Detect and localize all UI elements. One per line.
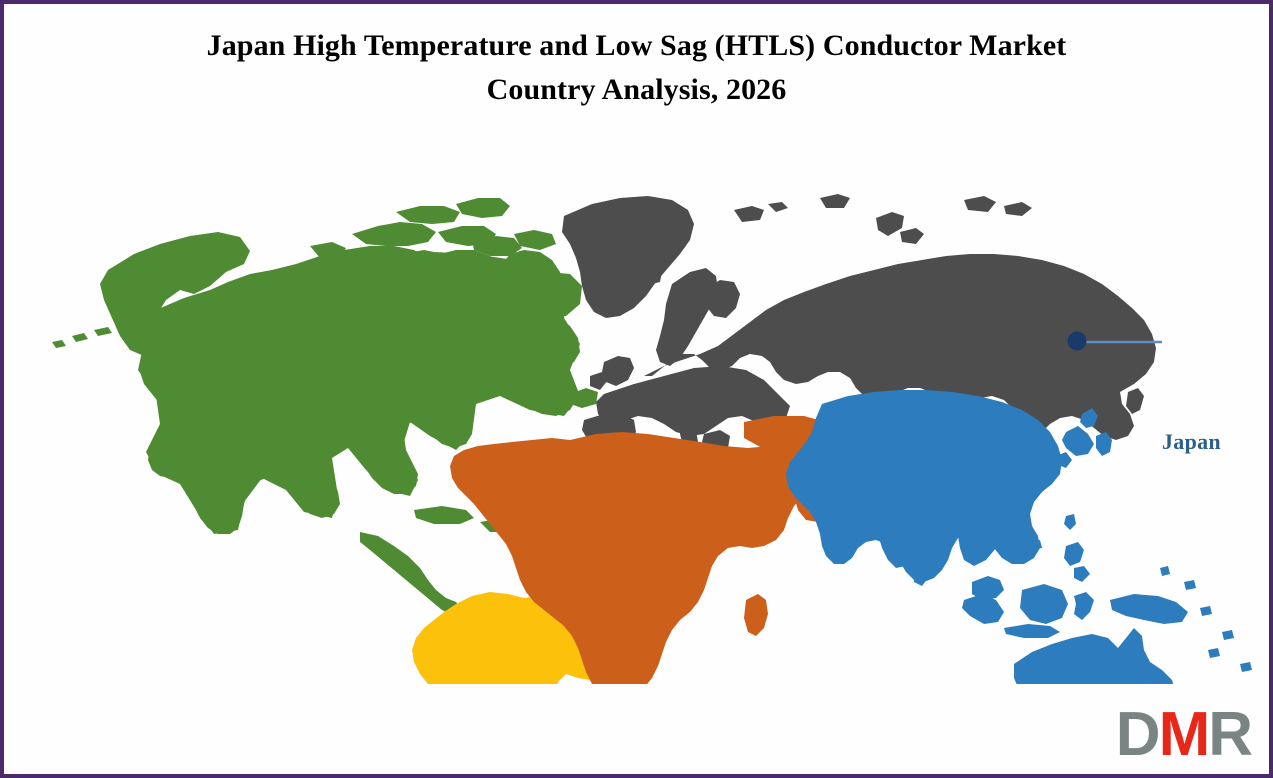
dmr-logo: DMR <box>1116 704 1251 766</box>
japan-marker-dot[interactable] <box>1068 332 1087 351</box>
logo-letter-d: D <box>1116 700 1159 769</box>
world-map-container: Japan <box>4 104 1273 684</box>
page-title: Japan High Temperature and Low Sag (HTLS… <box>4 24 1269 113</box>
logo-letter-r: R <box>1208 700 1251 769</box>
page-title-line-1: Japan High Temperature and Low Sag (HTLS… <box>4 24 1269 68</box>
poster-canvas: Japan High Temperature and Low Sag (HTLS… <box>0 0 1273 778</box>
logo-letter-m: M <box>1159 700 1209 769</box>
japan-label: Japan <box>1162 429 1221 455</box>
world-map-svg <box>4 104 1273 684</box>
